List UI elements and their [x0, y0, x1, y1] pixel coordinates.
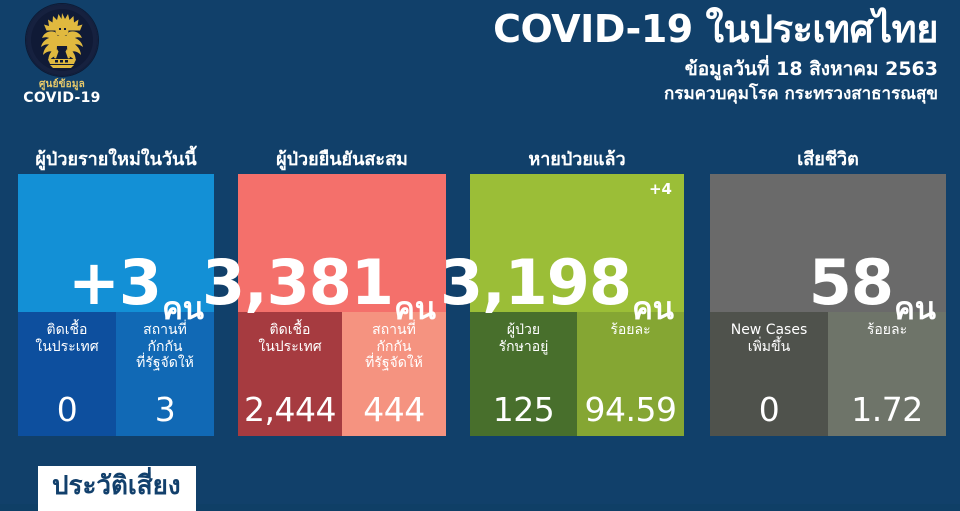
stat-card-new-cases: ผู้ป่วยรายใหม่ในวันนี้ +3 คน ติดเชื้อ ใน… [18, 148, 214, 444]
stat-cards-row: ผู้ป่วยรายใหม่ในวันนี้ +3 คน ติดเชื้อ ใน… [0, 148, 960, 444]
page-title: COVID-19 ในประเทศไทย [493, 8, 938, 52]
big-value-panel-deaths: 58 คน [710, 174, 946, 312]
big-unit-deaths: คน [894, 296, 936, 322]
sub-value-quarantine-new: 3 [155, 393, 176, 426]
sub-cells-new-cases: ติดเชื้อ ในประเทศ 0 สถานที่ กักกัน ที่รั… [18, 312, 214, 436]
sub-cell-new-deaths: New Cases เพิ่มขึ้น 0 [710, 312, 828, 436]
sub-value-domestic-new: 0 [57, 393, 78, 426]
card-heading-recovered: หายป่วยแล้ว [470, 148, 684, 174]
big-value-new-cases: +3 [68, 257, 161, 310]
big-value-panel-new-cases: +3 คน [18, 174, 214, 312]
sub-label-active-cases: ผู้ป่วย รักษาอยู่ [499, 322, 549, 355]
data-date-line: ข้อมูลวันที่ 18 สิงหาคม 2563 [493, 58, 938, 81]
sub-value-quarantine-cumulative: 444 [363, 393, 425, 426]
card-heading-deaths: เสียชีวิต [710, 148, 946, 174]
stat-card-deaths: เสียชีวิต 58 คน New Cases เพิ่มขึ้น 0 ร้… [710, 148, 946, 444]
sub-cell-domestic-new: ติดเชื้อ ในประเทศ 0 [18, 312, 116, 436]
card-body-deaths: 58 คน New Cases เพิ่มขึ้น 0 ร้อยละ 1.72 [710, 174, 946, 436]
sub-cells-cumulative: ติดเชื้อ ในประเทศ 2,444 สถานที่ กักกัน ท… [238, 312, 446, 436]
sub-label-quarantine-new: สถานที่ กักกัน ที่รัฐจัดให้ [136, 322, 194, 372]
sub-label-domestic-cumulative: ติดเชื้อ ในประเทศ [258, 322, 321, 355]
card-heading-cumulative: ผู้ป่วยยืนยันสะสม [238, 148, 446, 174]
organization-line: กรมควบคุมโรค กระทรวงสาธารณสุข [493, 84, 938, 104]
stat-card-cumulative: ผู้ป่วยยืนยันสะสม 3,381 คน ติดเชื้อ ในปร… [238, 148, 446, 444]
sub-cells-recovered: ผู้ป่วย รักษาอยู่ 125 ร้อยละ 94.59 [470, 312, 684, 436]
sub-cells-deaths: New Cases เพิ่มขึ้น 0 ร้อยละ 1.72 [710, 312, 946, 436]
sub-cell-domestic-cumulative: ติดเชื้อ ในประเทศ 2,444 [238, 312, 342, 436]
delta-badge-recovered: +4 [649, 180, 672, 198]
sub-value-new-deaths: 0 [759, 393, 780, 426]
sub-label-quarantine-cumulative: สถานที่ กักกัน ที่รัฐจัดให้ [365, 322, 423, 372]
big-unit-cumulative: คน [394, 296, 436, 322]
sub-value-domestic-cumulative: 2,444 [244, 393, 336, 426]
card-heading-new-cases: ผู้ป่วยรายใหม่ในวันนี้ [18, 148, 214, 174]
sub-label-domestic-new: ติดเชื้อ ในประเทศ [35, 322, 98, 355]
sub-label-new-deaths: New Cases เพิ่มขึ้น [731, 322, 808, 355]
emblem-caption-thai: ศูนย์ข้อมูล [16, 79, 108, 90]
big-value-panel-cumulative: 3,381 คน [238, 174, 446, 312]
big-value-panel-recovered: +4 3,198 คน [470, 174, 684, 312]
header: ศูนย์ข้อมูล COVID-19 COVID-19 ในประเทศไท… [0, 0, 960, 140]
sub-cell-quarantine-cumulative: สถานที่ กักกัน ที่รัฐจัดให้ 444 [342, 312, 446, 436]
sub-value-recovered-percent: 94.59 [585, 393, 677, 426]
emblem-caption-english: COVID-19 [16, 90, 108, 106]
emblem-block: ศูนย์ข้อมูล COVID-19 [16, 4, 108, 106]
big-value-deaths: 58 [809, 257, 893, 310]
big-value-recovered: 3,198 [440, 257, 631, 310]
sub-value-death-percent: 1.72 [851, 393, 922, 426]
big-unit-new-cases: คน [162, 296, 204, 322]
sub-cell-quarantine-new: สถานที่ กักกัน ที่รัฐจัดให้ 3 [116, 312, 214, 436]
title-block: COVID-19 ในประเทศไทย ข้อมูลวันที่ 18 สิง… [493, 8, 938, 105]
thai-garuda-emblem-icon [26, 4, 98, 76]
card-body-recovered: +4 3,198 คน ผู้ป่วย รักษาอยู่ 125 ร้อยละ… [470, 174, 684, 436]
card-body-cumulative: 3,381 คน ติดเชื้อ ในประเทศ 2,444 สถานที่… [238, 174, 446, 436]
sub-cell-active-cases: ผู้ป่วย รักษาอยู่ 125 [470, 312, 577, 436]
sub-cell-death-percent: ร้อยละ 1.72 [828, 312, 946, 436]
big-value-cumulative: 3,381 [202, 257, 393, 310]
card-body-new-cases: +3 คน ติดเชื้อ ในประเทศ 0 สถานที่ กักกัน… [18, 174, 214, 436]
big-unit-recovered: คน [632, 296, 674, 322]
stat-card-recovered: หายป่วยแล้ว +4 3,198 คน ผู้ป่วย รักษาอยู… [470, 148, 684, 444]
sub-cell-recovered-percent: ร้อยละ 94.59 [577, 312, 684, 436]
sub-value-active-cases: 125 [493, 393, 555, 426]
